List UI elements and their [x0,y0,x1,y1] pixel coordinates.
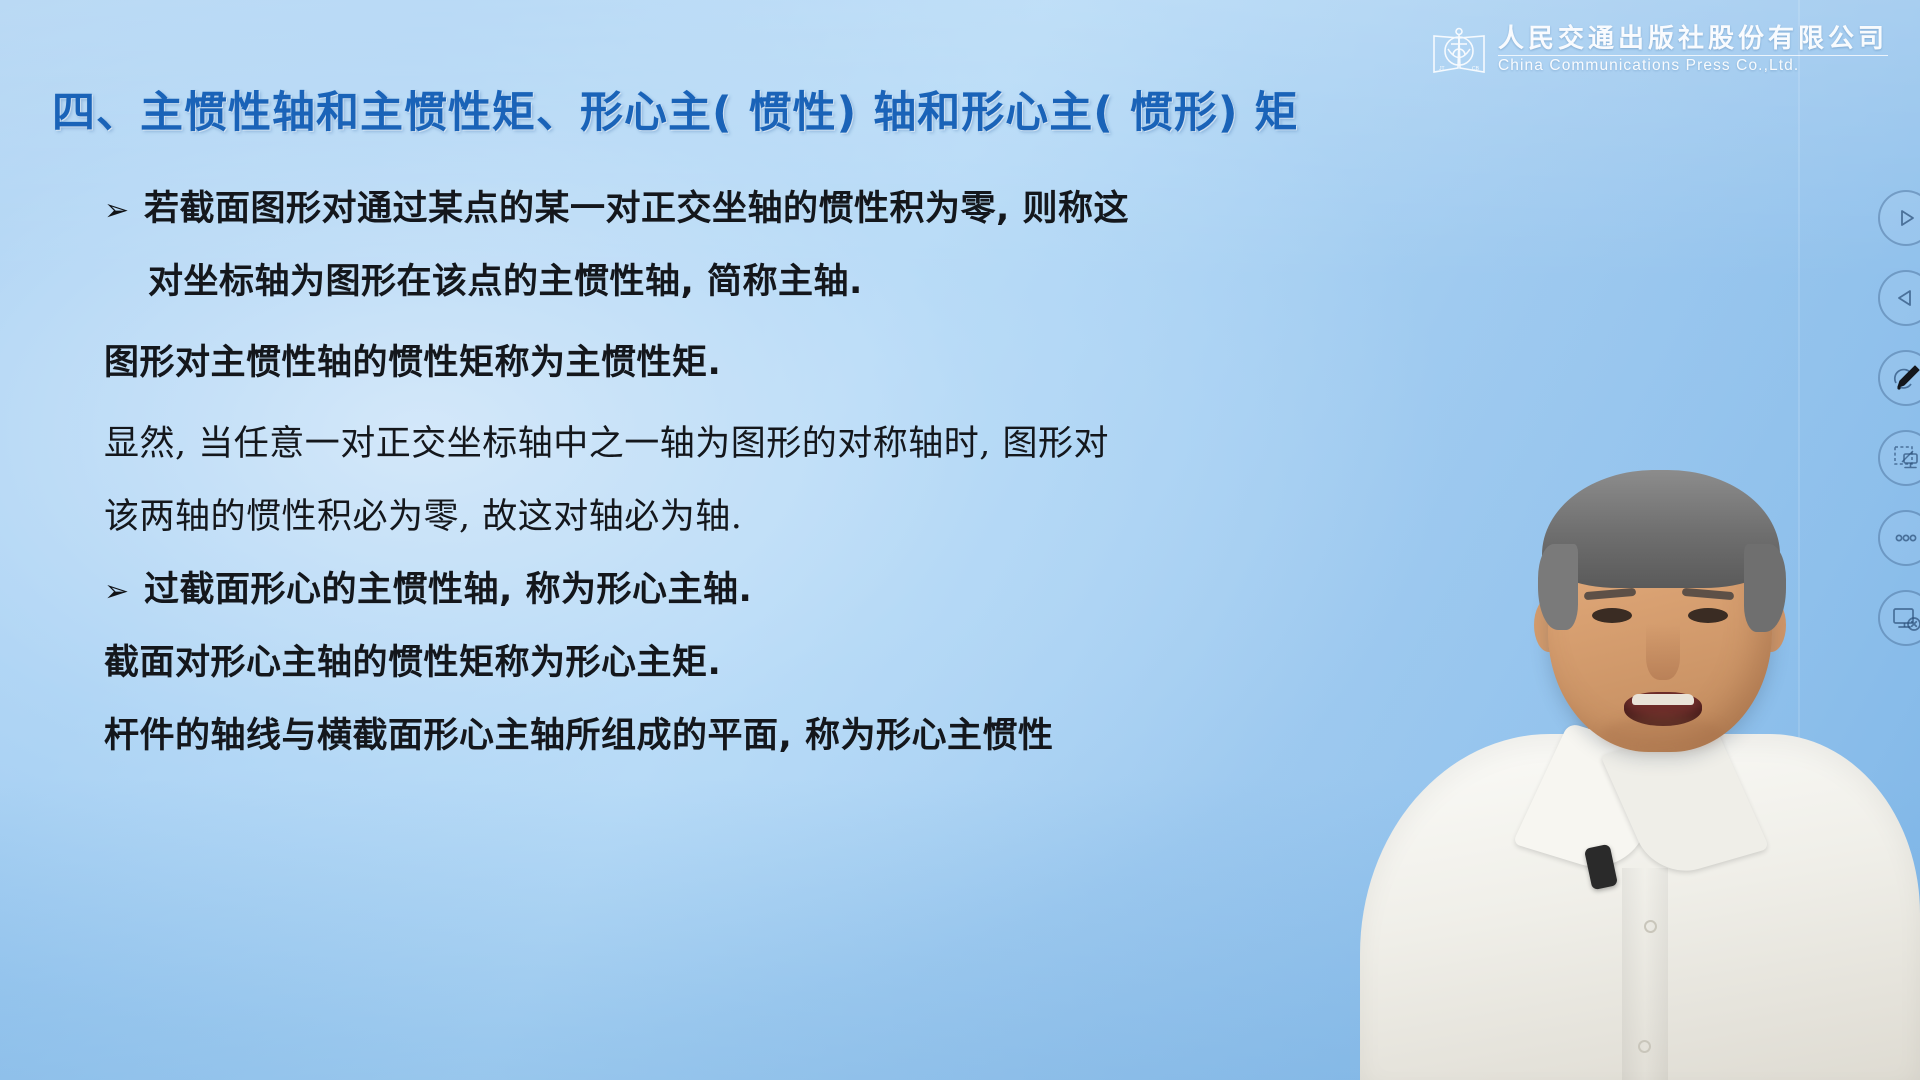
annotate-pen-button[interactable] [1878,350,1920,406]
statement-text: 图形对主惯性轴的惯性矩称为主惯性矩. [104,346,721,381]
statement-text: 截面对形心主轴的惯性矩称为形心主矩. [104,646,721,681]
slide-body: ➢ 若截面图形对通过某点的某一对正交坐轴的惯性积为零, 则称这 对坐标轴为图形在… [0,168,1560,754]
shirt-button [1644,920,1657,933]
bullet-item: ➢ 若截面图形对通过某点的某一对正交坐轴的惯性积为零, 则称这 [0,192,1560,227]
remark-text: 显然, 当任意一对正交坐标轴中之一轴为图形的对称轴时, 图形对 [104,427,1109,462]
close-video-button[interactable] [1878,590,1920,646]
presenter-chin-shadow [1602,716,1722,750]
bullet-arrow-icon: ➢ [104,577,144,607]
pen-annotate-icon [1891,363,1920,393]
ellipsis-icon [1892,524,1920,552]
more-options-button[interactable] [1878,510,1920,566]
bullet-item: ➢ 过截面形心的主惯性轴, 称为形心主轴. [0,573,1560,608]
prev-slide-button[interactable] [1878,270,1920,326]
svg-text:JT: JT [1439,66,1445,72]
svg-text:CB: CB [1472,66,1480,72]
lecture-slide: JT CB 人民交通出版社股份有限公司 China Communications… [0,0,1920,1080]
play-triangle-right-icon [1894,206,1918,230]
remark-line: 该两轴的惯性积必为零, 故这对轴必为轴. [0,500,1560,535]
bullet-arrow-icon: ➢ [104,196,144,226]
statement-line: 截面对形心主轴的惯性矩称为形心主矩. [0,646,1560,681]
crop-screenshot-icon [1891,443,1920,473]
bullet-continuation: 对坐标轴为图形在该点的主惯性轴, 简称主轴. [0,265,1560,300]
slide-title: 四、主惯性轴和主惯性矩、形心主( 惯性) 轴和形心主( 惯形) 矩 [52,78,1532,140]
presenter-hair-left [1538,544,1578,630]
presenter-nose [1646,624,1680,680]
bullet-text-line: 过截面形心的主惯性轴, 称为形心主轴. [144,573,752,608]
screen-close-icon [1891,603,1920,633]
presenter-eye-right [1688,608,1728,623]
statement-line: 图形对主惯性轴的惯性矩称为主惯性矩. [0,346,1560,381]
presenter-teeth [1632,694,1694,705]
play-triangle-left-icon [1894,286,1918,310]
player-side-toolbar[interactable] [1878,190,1920,646]
presenter-video-overlay [1352,448,1920,1080]
publisher-emblem-icon: JT CB [1432,24,1486,76]
presenter-eye-left [1592,608,1632,623]
bullet-text-line: 对坐标轴为图形在该点的主惯性轴, 简称主轴. [148,265,863,300]
statement-text: 杆件的轴线与横截面形心主轴所组成的平面, 称为形心主惯性 [104,719,1053,754]
statement-line: 杆件的轴线与横截面形心主轴所组成的平面, 称为形心主惯性 [0,719,1560,754]
shirt-button [1638,1040,1651,1053]
bullet-text-line: 若截面图形对通过某点的某一对正交坐轴的惯性积为零, 则称这 [144,192,1129,227]
remark-line: 显然, 当任意一对正交坐标轴中之一轴为图形的对称轴时, 图形对 [0,427,1560,462]
screenshot-button[interactable] [1878,430,1920,486]
next-slide-button[interactable] [1878,190,1920,246]
publisher-logo: JT CB 人民交通出版社股份有限公司 China Communications… [1432,24,1888,76]
remark-text: 该两轴的惯性积必为零, 故这对轴必为轴. [104,500,742,535]
presenter-hair-right [1744,544,1786,632]
publisher-name-cn: 人民交通出版社股份有限公司 [1498,26,1888,56]
publisher-name-en: China Communications Press Co.,Ltd. [1498,57,1888,74]
